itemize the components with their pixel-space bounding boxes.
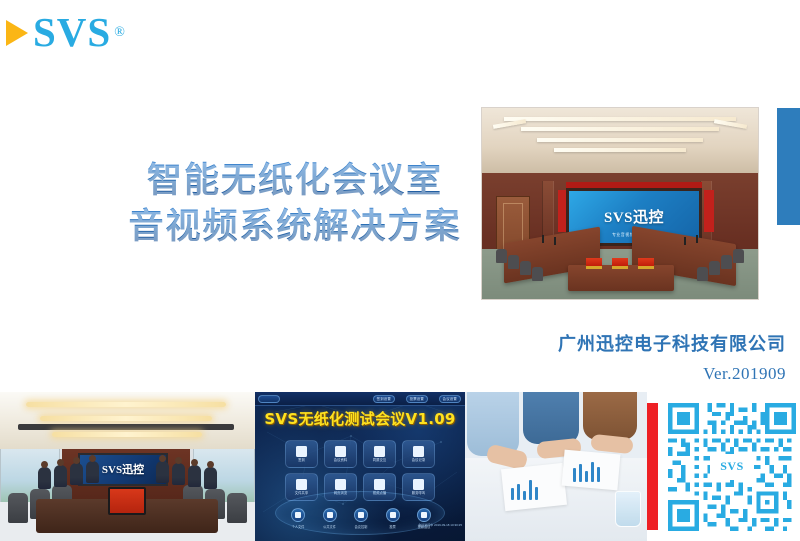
app-topbar-button-0[interactable]: 签到设置	[373, 395, 395, 403]
app-nav-label: 会议控制	[355, 524, 368, 529]
control-icon	[354, 508, 368, 522]
app-topbar-button-2[interactable]: 会议设置	[439, 395, 461, 403]
brand-logo-text: SVS	[33, 12, 111, 53]
public-file-icon	[323, 508, 337, 522]
app-tile-label: 会议资料	[334, 459, 348, 462]
qr-center-logo: SVS	[710, 454, 754, 480]
hero-ceiling	[482, 108, 758, 173]
video-icon	[374, 479, 385, 490]
folder-icon	[296, 479, 307, 490]
notes-icon	[413, 446, 424, 457]
title-line-2: 音视频系统解决方案	[110, 204, 480, 250]
triangle-mark-icon	[6, 20, 28, 46]
strip-qr-block: SVS	[647, 392, 800, 541]
brand-logo: SVS ®	[6, 12, 125, 53]
app-nav-label: 个人文件	[292, 524, 305, 529]
app-bottom-nav: 个人文件 公共文件 会议控制 投票 视频会议	[291, 508, 431, 529]
qr-code[interactable]: SVS	[668, 403, 796, 531]
app-nav-public-files[interactable]: 公共文件	[323, 508, 337, 529]
app-tile-label: 签到	[298, 459, 305, 462]
photo-sleeve-3	[583, 392, 637, 440]
version-label: Ver.201909	[400, 364, 786, 384]
app-tile-screen-share[interactable]: 同屏交互	[363, 440, 396, 468]
hero-scroll-right	[704, 190, 714, 232]
app-nav-label: 公共文件	[323, 524, 336, 529]
app-tile-label: 文件共享	[295, 492, 309, 495]
app-nav-label: 投票	[389, 524, 395, 529]
screen-share-icon	[374, 446, 385, 457]
strip-meeting-photo	[465, 392, 647, 541]
user-file-icon	[291, 508, 305, 522]
hero-conference-room-image: SVS迅控 专业音视频设备集成商	[481, 107, 759, 300]
photo-water-glass	[615, 491, 641, 527]
right-accent-bar	[777, 108, 800, 225]
app-tile-meeting-notes[interactable]: 会议记录	[402, 440, 435, 468]
registered-mark: ®	[114, 25, 125, 41]
app-tile-label: 服务呼叫	[412, 492, 426, 495]
app-nav-personal-files[interactable]: 个人文件	[291, 508, 305, 529]
hero-screen-logo: SVS迅控	[604, 206, 664, 227]
slide-cover: SVS ® 智能无纸化会议室 音视频系统解决方案 SVS迅控 专业音视频设备集成…	[0, 0, 800, 541]
app-tile-label: 同屏交互	[373, 459, 387, 462]
title-line-1: 智能无纸化会议室	[110, 158, 480, 204]
app-status-text: 会议进行中 2019-09-18 10:30:25	[418, 523, 462, 527]
app-topbar-button-1[interactable]: 投票设置	[406, 395, 428, 403]
app-menu-button[interactable]	[258, 395, 280, 403]
clipboard-icon	[296, 446, 307, 457]
page-title: 智能无纸化会议室 音视频系统解决方案	[110, 158, 480, 250]
company-name: 广州迅控电子科技有限公司	[400, 330, 786, 356]
strip-room-photo: SVS迅控	[0, 392, 255, 541]
app-nav-meeting-control[interactable]: 会议控制	[354, 508, 368, 529]
document-icon	[335, 446, 346, 457]
room-ceiling	[0, 392, 255, 449]
browser-icon	[335, 479, 346, 490]
app-nav-vote[interactable]: 投票	[386, 508, 400, 529]
red-divider-bar	[647, 403, 658, 530]
room-laptop	[108, 487, 146, 515]
app-tile-label: 会议记录	[412, 459, 426, 462]
video-conf-icon	[417, 508, 431, 522]
app-tile-sign-in[interactable]: 签到	[285, 440, 318, 468]
app-title: SVS无纸化测试会议V1.09	[255, 408, 465, 429]
photo-sleeve-2	[523, 392, 579, 444]
strip-app-screenshot: 签到设置 投票设置 会议设置 SVS无纸化测试会议V1.09 签到 会议资料 同…	[255, 392, 465, 541]
room-screen-logo: SVS迅控	[102, 461, 144, 477]
qr-center-text: SVS	[720, 459, 744, 474]
bell-icon	[413, 479, 424, 490]
bottom-image-strip: SVS迅控	[0, 392, 800, 541]
app-tile-meeting-docs[interactable]: 会议资料	[324, 440, 357, 468]
app-topbar: 签到设置 投票设置 会议设置	[255, 392, 465, 406]
photo-hand-3	[590, 434, 633, 454]
photo-chart-paper-1	[501, 463, 567, 511]
vote-icon	[386, 508, 400, 522]
